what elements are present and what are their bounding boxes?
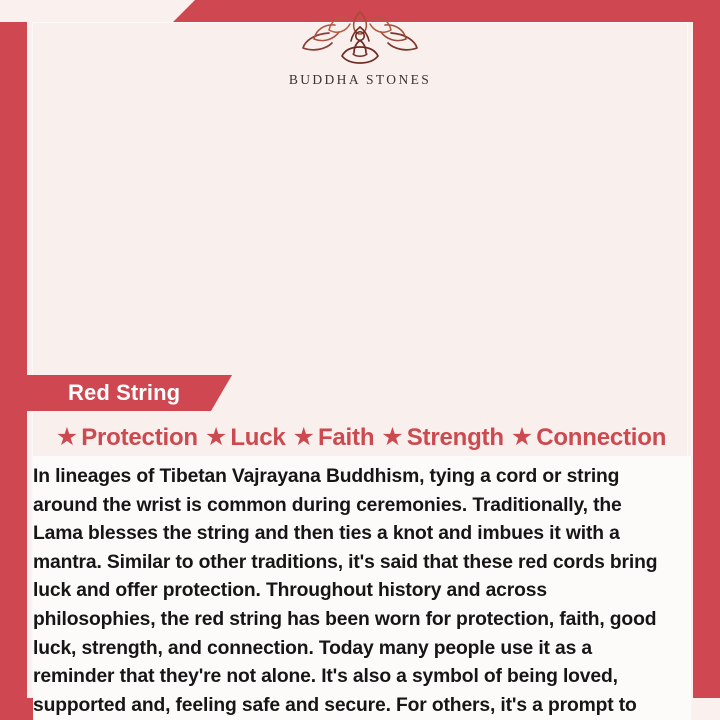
benefit-item: ★ Connection [511, 424, 666, 452]
brand-name: BUDDHA STONES [289, 72, 431, 88]
brand-logo: BUDDHA STONES [0, 10, 720, 88]
product-label-banner: Red String [27, 375, 232, 411]
right-red-band [693, 22, 720, 698]
product-label-text: Red String [68, 380, 180, 406]
benefit-label: Strength [407, 424, 504, 452]
benefit-label: Connection [536, 424, 666, 452]
benefit-label: Protection [81, 424, 198, 452]
benefit-item: ★ Protection [56, 424, 198, 452]
benefits-row: ★ Protection ★ Luck ★ Faith ★ Strength ★… [33, 418, 689, 458]
star-icon: ★ [293, 425, 315, 450]
benefit-label: Luck [230, 424, 285, 452]
infographic-page: BUDDHA STONES Material Features & Benefi… [0, 0, 720, 720]
benefit-item: ★ Faith [293, 424, 375, 452]
description-text: In lineages of Tibetan Vajrayana Buddhis… [33, 462, 673, 720]
star-icon: ★ [205, 425, 227, 450]
benefit-item: ★ Luck [205, 424, 286, 452]
description-block: In lineages of Tibetan Vajrayana Buddhis… [33, 456, 691, 720]
benefit-item: ★ Strength [381, 424, 503, 452]
lotus-meditation-figure-icon [299, 10, 421, 70]
star-icon: ★ [511, 425, 533, 450]
star-icon: ★ [381, 425, 403, 450]
benefit-label: Faith [318, 424, 374, 452]
left-red-band [0, 22, 27, 698]
star-icon: ★ [56, 425, 78, 450]
